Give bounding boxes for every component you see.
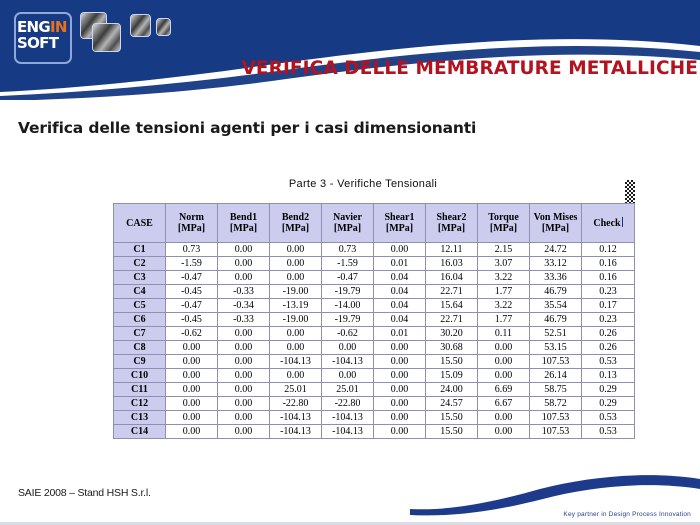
cell-navier: -1.59	[322, 257, 374, 271]
cell-torque: 0.00	[478, 411, 530, 425]
cell-shear2: 24.57	[426, 397, 478, 411]
cell-check: 0.23	[582, 313, 635, 327]
column-header-shear2-name: Shear2	[429, 212, 474, 223]
cell-shear1: 0.00	[374, 369, 426, 383]
cell-check: 0.26	[582, 341, 635, 355]
cell-shear1: 0.00	[374, 397, 426, 411]
cell-shear1: 0.04	[374, 299, 426, 313]
table-row: C5-0.47-0.34-13.19-14.000.0415.643.2235.…	[114, 299, 635, 313]
stress-results-table: CASE Norm [MPa] Bend1 [MPa] Bend2 [MPa] …	[113, 203, 635, 439]
cell-case: C1	[114, 243, 166, 257]
cell-torque: 3.22	[478, 299, 530, 313]
column-header-bend1-unit: [MPa]	[221, 223, 266, 234]
cell-shear2: 30.68	[426, 341, 478, 355]
cell-check: 0.13	[582, 369, 635, 383]
page-title: VERIFICA DELLE MEMBRATURE METALLICHE	[241, 58, 698, 79]
column-header-shear1: Shear1 [MPa]	[374, 204, 426, 243]
cell-navier: -0.62	[322, 327, 374, 341]
cell-norm: 0.00	[166, 411, 218, 425]
column-header-shear1-name: Shear1	[377, 212, 422, 223]
cell-shear1: 0.00	[374, 411, 426, 425]
table-header-row-group: CASE Norm [MPa] Bend1 [MPa] Bend2 [MPa] …	[114, 204, 635, 243]
cell-case: C7	[114, 327, 166, 341]
cell-navier: -104.13	[322, 425, 374, 439]
cell-bend2: 0.00	[270, 271, 322, 285]
cell-von-mises: 107.53	[530, 425, 582, 439]
cell-torque: 3.22	[478, 271, 530, 285]
cell-torque: 6.69	[478, 383, 530, 397]
cell-navier: 25.01	[322, 383, 374, 397]
cell-von-mises: 35.54	[530, 299, 582, 313]
cell-torque: 2.15	[478, 243, 530, 257]
cell-bend2: 0.00	[270, 327, 322, 341]
column-header-norm-name: Norm	[169, 212, 214, 223]
logo-photo-strip	[80, 8, 170, 58]
cell-bend1: 0.00	[218, 243, 270, 257]
cell-shear2: 24.00	[426, 383, 478, 397]
table-row: C110.000.0025.0125.010.0024.006.6958.750…	[114, 383, 635, 397]
column-header-von-mises-name: Von Mises	[533, 212, 578, 223]
column-header-case-name: CASE	[117, 218, 162, 229]
cell-case: C2	[114, 257, 166, 271]
cell-bend2: 25.01	[270, 383, 322, 397]
cell-bend1: 0.00	[218, 425, 270, 439]
cell-shear2: 22.71	[426, 285, 478, 299]
cell-shear1: 0.04	[374, 313, 426, 327]
cell-case: C13	[114, 411, 166, 425]
cell-bend2: -22.80	[270, 397, 322, 411]
cell-shear2: 15.50	[426, 355, 478, 369]
table-header-row: CASE Norm [MPa] Bend1 [MPa] Bend2 [MPa] …	[114, 204, 635, 243]
column-header-navier: Navier [MPa]	[322, 204, 374, 243]
cell-von-mises: 107.53	[530, 411, 582, 425]
cell-shear2: 15.50	[426, 425, 478, 439]
column-header-check: Check	[582, 204, 635, 243]
cell-bend1: 0.00	[218, 355, 270, 369]
cell-case: C11	[114, 383, 166, 397]
cell-check: 0.53	[582, 355, 635, 369]
table-body: C10.730.000.000.730.0012.112.1524.720.12…	[114, 243, 635, 439]
cell-navier: 0.00	[322, 369, 374, 383]
column-header-von-mises: Von Mises [MPa]	[530, 204, 582, 243]
column-header-bend2-name: Bend2	[273, 212, 318, 223]
table-row: C120.000.00-22.80-22.800.0024.576.6758.7…	[114, 397, 635, 411]
cell-bend2: -19.00	[270, 285, 322, 299]
cell-norm: 0.00	[166, 425, 218, 439]
cell-bend1: 0.00	[218, 341, 270, 355]
table-row: C10.730.000.000.730.0012.112.1524.720.12	[114, 243, 635, 257]
photo-thumbnail-4	[156, 18, 171, 36]
cell-check: 0.53	[582, 411, 635, 425]
cell-bend2: -19.00	[270, 313, 322, 327]
cell-torque: 3.07	[478, 257, 530, 271]
cell-case: C3	[114, 271, 166, 285]
cell-von-mises: 46.79	[530, 285, 582, 299]
cell-case: C14	[114, 425, 166, 439]
cell-torque: 0.00	[478, 425, 530, 439]
cell-bend1: 0.00	[218, 411, 270, 425]
photo-thumbnail-3	[130, 14, 151, 37]
cell-torque: 0.00	[478, 355, 530, 369]
table-row: C90.000.00-104.13-104.130.0015.500.00107…	[114, 355, 635, 369]
cell-shear1: 0.00	[374, 383, 426, 397]
cell-shear1: 0.00	[374, 425, 426, 439]
cell-case: C8	[114, 341, 166, 355]
cell-von-mises: 107.53	[530, 355, 582, 369]
cell-bend1: -0.33	[218, 285, 270, 299]
logo-line-2: SOFT	[17, 36, 67, 51]
cell-bend2: -104.13	[270, 411, 322, 425]
table-row: C2-1.590.000.00-1.590.0116.033.0733.120.…	[114, 257, 635, 271]
cell-case: C9	[114, 355, 166, 369]
cell-von-mises: 58.75	[530, 383, 582, 397]
column-header-check-name: Check	[593, 218, 620, 229]
column-header-navier-unit: [MPa]	[325, 223, 370, 234]
cell-shear2: 16.04	[426, 271, 478, 285]
cell-navier: 0.00	[322, 341, 374, 355]
cell-navier: -19.79	[322, 285, 374, 299]
cell-shear1: 0.01	[374, 257, 426, 271]
text-cursor-artifact	[622, 217, 623, 227]
cell-norm: -0.62	[166, 327, 218, 341]
cell-shear1: 0.00	[374, 341, 426, 355]
cell-shear2: 12.11	[426, 243, 478, 257]
cell-bend2: -104.13	[270, 425, 322, 439]
column-header-torque-unit: [MPa]	[481, 223, 526, 234]
cell-torque: 0.00	[478, 341, 530, 355]
table-row: C4-0.45-0.33-19.00-19.790.0422.711.7746.…	[114, 285, 635, 299]
cell-norm: 0.00	[166, 383, 218, 397]
cell-norm: 0.00	[166, 355, 218, 369]
cell-bend1: -0.33	[218, 313, 270, 327]
cell-torque: 1.77	[478, 313, 530, 327]
cell-bend1: 0.00	[218, 327, 270, 341]
cell-norm: 0.00	[166, 341, 218, 355]
cell-torque: 0.11	[478, 327, 530, 341]
cell-bend1: 0.00	[218, 397, 270, 411]
cell-torque: 6.67	[478, 397, 530, 411]
column-header-norm: Norm [MPa]	[166, 204, 218, 243]
stress-verification-figure: Parte 3 - Verifiche Tensionali CASE Norm…	[111, 174, 635, 440]
cell-check: 0.29	[582, 397, 635, 411]
column-header-case: CASE	[114, 204, 166, 243]
column-header-torque: Torque [MPa]	[478, 204, 530, 243]
cell-von-mises: 33.12	[530, 257, 582, 271]
column-header-shear2-unit: [MPa]	[429, 223, 474, 234]
footer-tagline: Key partner in Design Process Innovation	[563, 511, 691, 518]
cell-check: 0.16	[582, 271, 635, 285]
cell-bend2: 0.00	[270, 341, 322, 355]
cell-norm: 0.00	[166, 397, 218, 411]
cell-von-mises: 53.15	[530, 341, 582, 355]
cell-navier: -14.00	[322, 299, 374, 313]
slide-subtitle: Verifica delle tensioni agenti per i cas…	[18, 119, 476, 137]
cell-check: 0.17	[582, 299, 635, 313]
cell-shear1: 0.00	[374, 243, 426, 257]
cell-case: C6	[114, 313, 166, 327]
cell-norm: -1.59	[166, 257, 218, 271]
cell-torque: 1.77	[478, 285, 530, 299]
cell-check: 0.23	[582, 285, 635, 299]
photo-thumbnail-2	[92, 23, 121, 52]
cell-case: C5	[114, 299, 166, 313]
cell-norm: -0.45	[166, 285, 218, 299]
table-row: C80.000.000.000.000.0030.680.0053.150.26	[114, 341, 635, 355]
cell-shear1: 0.04	[374, 271, 426, 285]
cell-case: C10	[114, 369, 166, 383]
cell-torque: 0.00	[478, 369, 530, 383]
footer-event-note: SAIE 2008 – Stand HSH S.r.l.	[18, 487, 151, 499]
cell-shear1: 0.00	[374, 355, 426, 369]
cell-navier: -22.80	[322, 397, 374, 411]
table-row: C140.000.00-104.13-104.130.0015.500.0010…	[114, 425, 635, 439]
column-header-von-mises-unit: [MPa]	[533, 223, 578, 234]
cell-von-mises: 33.36	[530, 271, 582, 285]
cell-shear2: 15.64	[426, 299, 478, 313]
cell-shear2: 15.50	[426, 411, 478, 425]
cell-shear2: 30.20	[426, 327, 478, 341]
slide-header: ENGIN SOFT VERIFICA DELLE MEMBRATURE MET…	[0, 0, 700, 100]
cell-shear2: 16.03	[426, 257, 478, 271]
cell-case: C4	[114, 285, 166, 299]
cell-von-mises: 26.14	[530, 369, 582, 383]
cell-case: C12	[114, 397, 166, 411]
cell-norm: 0.73	[166, 243, 218, 257]
column-header-shear1-unit: [MPa]	[377, 223, 422, 234]
cell-bend1: 0.00	[218, 271, 270, 285]
cell-bend1: -0.34	[218, 299, 270, 313]
table-row: C6-0.45-0.33-19.00-19.790.0422.711.7746.…	[114, 313, 635, 327]
cell-navier: 0.73	[322, 243, 374, 257]
cell-bend1: 0.00	[218, 257, 270, 271]
table-row: C100.000.000.000.000.0015.090.0026.140.1…	[114, 369, 635, 383]
column-header-torque-name: Torque	[481, 212, 526, 223]
cell-bend1: 0.00	[218, 383, 270, 397]
cell-bend2: -104.13	[270, 355, 322, 369]
cell-check: 0.16	[582, 257, 635, 271]
column-header-shear2: Shear2 [MPa]	[426, 204, 478, 243]
cell-bend2: -13.19	[270, 299, 322, 313]
column-header-bend1-name: Bend1	[221, 212, 266, 223]
cell-check: 0.29	[582, 383, 635, 397]
enginsoft-logo-text: ENGIN SOFT	[17, 20, 67, 51]
cell-shear1: 0.01	[374, 327, 426, 341]
cell-check: 0.53	[582, 425, 635, 439]
cell-shear1: 0.04	[374, 285, 426, 299]
cell-bend2: 0.00	[270, 257, 322, 271]
cell-bend1: 0.00	[218, 369, 270, 383]
column-header-navier-name: Navier	[325, 212, 370, 223]
cell-navier: -104.13	[322, 355, 374, 369]
cell-norm: -0.47	[166, 271, 218, 285]
cell-von-mises: 46.79	[530, 313, 582, 327]
cell-shear2: 15.09	[426, 369, 478, 383]
figure-caption: Parte 3 - Verifiche Tensionali	[111, 178, 615, 190]
cell-von-mises: 24.72	[530, 243, 582, 257]
cell-norm: 0.00	[166, 369, 218, 383]
cell-navier: -0.47	[322, 271, 374, 285]
column-header-bend2-unit: [MPa]	[273, 223, 318, 234]
cell-navier: -104.13	[322, 411, 374, 425]
cell-von-mises: 58.72	[530, 397, 582, 411]
column-header-bend1: Bend1 [MPa]	[218, 204, 270, 243]
column-header-norm-unit: [MPa]	[169, 223, 214, 234]
cell-shear2: 22.71	[426, 313, 478, 327]
cell-check: 0.26	[582, 327, 635, 341]
table-row: C3-0.470.000.00-0.470.0416.043.2233.360.…	[114, 271, 635, 285]
column-header-check-wrap: Check	[585, 217, 631, 229]
cell-norm: -0.47	[166, 299, 218, 313]
cell-von-mises: 52.51	[530, 327, 582, 341]
cell-bend2: 0.00	[270, 369, 322, 383]
table-row: C7-0.620.000.00-0.620.0130.200.1152.510.…	[114, 327, 635, 341]
table-row: C130.000.00-104.13-104.130.0015.500.0010…	[114, 411, 635, 425]
cell-norm: -0.45	[166, 313, 218, 327]
cell-bend2: 0.00	[270, 243, 322, 257]
cell-navier: -19.79	[322, 313, 374, 327]
cell-check: 0.12	[582, 243, 635, 257]
column-header-bend2: Bend2 [MPa]	[270, 204, 322, 243]
